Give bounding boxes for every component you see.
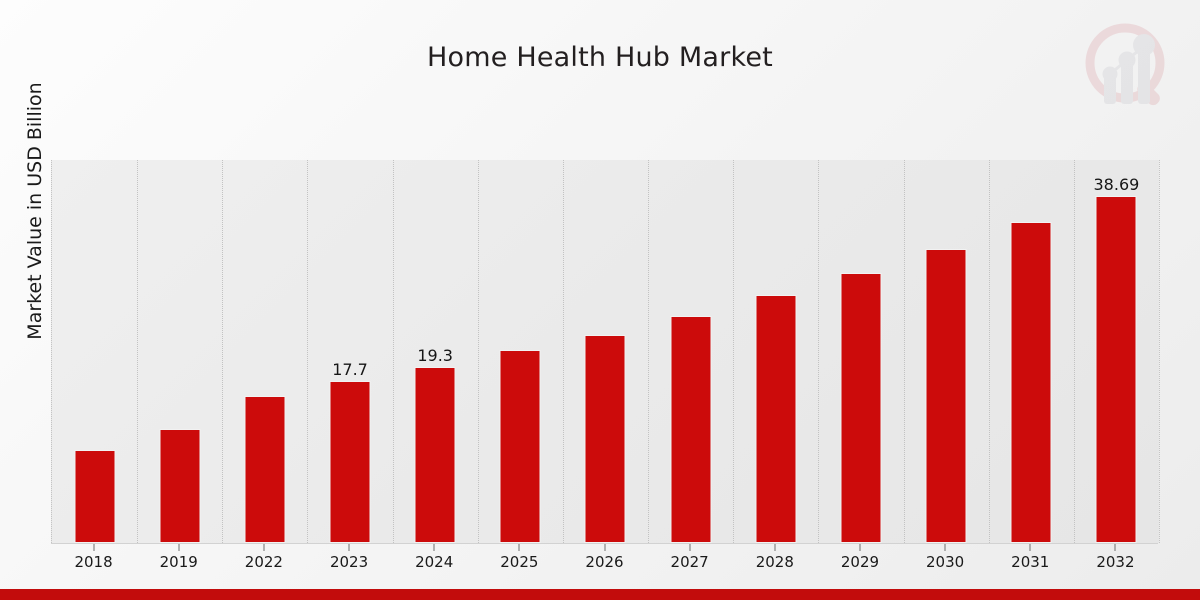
x-tick [263,544,264,551]
x-tick [859,544,860,551]
x-tick-label: 2026 [585,553,623,571]
x-axis-ticks [51,544,1158,552]
bar-slot [563,160,648,543]
x-tick-label: 2023 [330,553,368,571]
x-tick [604,544,605,551]
x-tick-label: 2027 [671,553,709,571]
bar-slot: 19.3 [393,160,478,543]
x-tick-label: 2032 [1096,553,1134,571]
bar[interactable] [1011,222,1052,543]
bar-slot: 17.7 [307,160,392,543]
x-tick-label: 2018 [74,553,112,571]
magnifier-bar-chart-logo [1078,18,1182,118]
x-tick [93,544,94,551]
bar[interactable] [159,429,200,543]
plot-area: 17.719.338.69 [51,160,1160,543]
bar-value-label: 38.69 [1094,175,1140,194]
x-tick-label: 2024 [415,553,453,571]
x-axis-labels: 2018201920222023202420252026202720282029… [51,553,1158,575]
x-tick [774,544,775,551]
bars-layer: 17.719.338.69 [52,160,1159,543]
bar[interactable] [330,381,371,543]
x-tick-label: 2028 [756,553,794,571]
bar[interactable] [840,273,881,543]
bar-slot [818,160,903,543]
bar-slot [904,160,989,543]
y-axis-title: Market Value in USD Billion [24,11,46,411]
x-tick [434,544,435,551]
bar[interactable] [500,350,541,543]
x-tick [1030,544,1031,551]
bar[interactable] [755,295,796,543]
bar[interactable] [244,396,285,543]
x-tick [178,544,179,551]
bar[interactable] [670,316,711,543]
x-tick [349,544,350,551]
x-tick-label: 2025 [500,553,538,571]
chart-page: Home Health Hub Market Market Value in U… [0,0,1200,600]
bar[interactable] [415,367,456,543]
x-tick [1115,544,1116,551]
bar[interactable] [74,450,115,543]
x-tick-label: 2030 [926,553,964,571]
x-tick-label: 2029 [841,553,879,571]
x-tick [689,544,690,551]
x-tick [519,544,520,551]
bar-slot [989,160,1074,543]
bar-slot: 38.69 [1074,160,1159,543]
bar-slot [733,160,818,543]
bar-slot [137,160,222,543]
bar[interactable] [926,249,967,543]
bottom-accent-band [0,589,1200,600]
page-title: Home Health Hub Market [0,42,1200,73]
bar-value-label: 17.7 [332,360,368,379]
bar-slot [478,160,563,543]
x-tick-label: 2019 [160,553,198,571]
x-tick-label: 2031 [1011,553,1049,571]
bar[interactable] [585,335,626,543]
bar-slot [222,160,307,543]
bar[interactable] [1096,196,1137,543]
bar-value-label: 19.3 [417,346,453,365]
x-tick [945,544,946,551]
x-tick-label: 2022 [245,553,283,571]
bar-slot [648,160,733,543]
bar-slot [52,160,137,543]
